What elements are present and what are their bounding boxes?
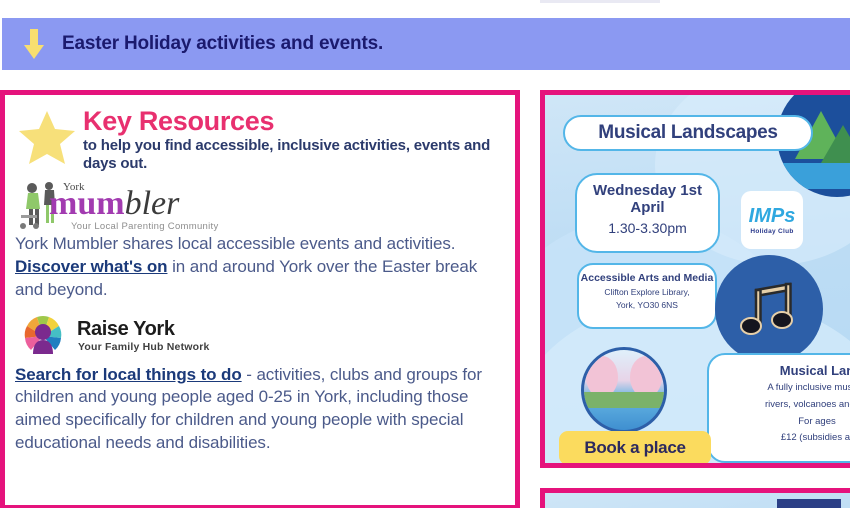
poster-description-line3: For ages <box>719 415 850 429</box>
star-icon <box>17 109 77 167</box>
poster-time: 1.30-3.30pm <box>577 220 718 236</box>
york-mumbler-logo: York mumbler Your Local Parenting Commun… <box>19 179 269 231</box>
poster-date-line1: Wednesday 1st <box>577 183 718 200</box>
imps-logo-sub: Holiday Club <box>750 228 793 235</box>
poster-description-line4: £12 (subsidies ar <box>719 431 850 445</box>
raise-york-name: Raise York <box>77 318 175 341</box>
poster-description-line1: A fully inclusive musical <box>719 381 850 395</box>
discover-whats-on-link[interactable]: Discover what's on <box>15 257 167 276</box>
top-sliver <box>0 0 850 8</box>
imps-holiday-club-logo: IMPs Holiday Club <box>741 191 803 249</box>
page-subtitle: to help you find accessible, inclusive a… <box>83 137 501 172</box>
poster-venue-name: Accessible Arts and Media <box>579 272 715 285</box>
poster-date-pill: Wednesday 1st April 1.30-3.30pm <box>575 173 720 253</box>
raise-york-description: Search for local things to do - activiti… <box>15 364 501 456</box>
poster-venue-pill: Accessible Arts and Media Clifton Explor… <box>577 263 717 329</box>
poster-date-line2: April <box>577 200 718 217</box>
poster-description-pill: Musical Lan A fully inclusive musical ri… <box>707 353 850 463</box>
down-arrow-icon <box>24 29 44 59</box>
poster-venue-address-2: York, YO30 6NS <box>579 300 715 311</box>
key-resources-header: Key Resources to help you find accessibl… <box>15 103 501 173</box>
poster-canvas: Musical Landscapes Wednesday 1st April 1… <box>545 95 850 463</box>
key-resources-card: Key Resources to help you find accessibl… <box>0 90 520 508</box>
mumbler-tagline: Your Local Parenting Community <box>71 221 219 232</box>
page-title: Key Resources <box>83 107 501 135</box>
musical-landscapes-card[interactable]: Musical Landscapes Wednesday 1st April 1… <box>540 90 850 468</box>
poster-title: Musical Landscapes <box>563 115 813 151</box>
poster-description-title: Musical Lan <box>719 363 850 378</box>
key-resources-titles: Key Resources to help you find accessibl… <box>83 103 501 173</box>
next-event-thumbnail <box>777 499 841 508</box>
music-note-icon-circle <box>715 255 823 363</box>
raise-york-logo: Raise York Your Family Hub Network <box>19 312 279 362</box>
mumbler-wordmark: mumbler <box>49 187 179 221</box>
next-event-card-canvas <box>545 493 850 508</box>
search-local-things-link[interactable]: Search for local things to do <box>15 365 242 384</box>
poster-description-line2: rivers, volcanoes and hill <box>719 398 850 412</box>
mumbler-word-mum: mum <box>49 185 125 222</box>
imps-logo-name: IMPs <box>749 206 796 226</box>
top-divider <box>540 0 660 3</box>
raise-york-tagline: Your Family Hub Network <box>78 341 210 353</box>
book-a-place-button[interactable]: Book a place <box>559 431 711 463</box>
mumbler-text-before: York Mumbler shares local accessible eve… <box>15 234 455 253</box>
music-note-icon <box>736 276 802 342</box>
banner-title: Easter Holiday activities and events. <box>62 33 383 55</box>
next-event-card[interactable] <box>540 488 850 508</box>
mumbler-description: York Mumbler shares local accessible eve… <box>15 233 501 302</box>
page-root: Easter Holiday activities and events. Ke… <box>0 0 850 508</box>
easter-holiday-banner[interactable]: Easter Holiday activities and events. <box>2 18 850 70</box>
river-landscape-photo <box>581 347 667 433</box>
mumbler-word-bler: bler <box>125 185 180 222</box>
poster-venue-address-1: Clifton Explore Library, <box>579 287 715 298</box>
raise-york-mark-icon <box>19 312 67 360</box>
